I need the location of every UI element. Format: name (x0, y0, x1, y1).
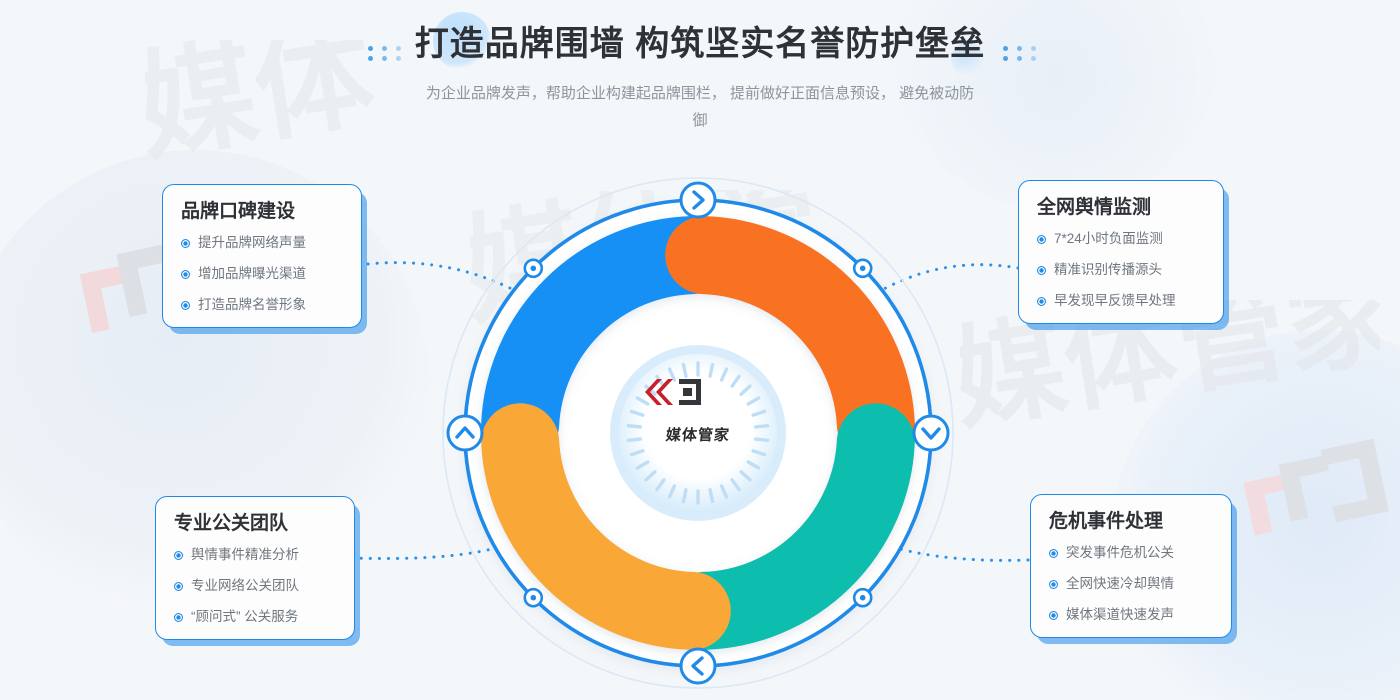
track-dot-bottom-left (525, 589, 542, 606)
node-bottom[interactable] (681, 649, 715, 683)
card-brand-reputation[interactable]: 品牌口碑建设 提升品牌网络声量 增加品牌曝光渠道 打造品牌名誉形象 (162, 184, 362, 328)
bullet-icon (181, 239, 190, 248)
card-title: 危机事件处理 (1049, 509, 1213, 535)
page-header: 打造品牌围墙 构筑坚实名誉防护堡垒 为企业品牌发声，帮助企业构建起品牌围栏， 提… (0, 18, 1400, 134)
card-opinion-monitoring[interactable]: 全网舆情监测 7*24小时负面监测 精准识别传播源头 早发现早反馈早处理 (1018, 180, 1224, 324)
bullet-icon (174, 613, 183, 622)
bullet-icon (1049, 580, 1058, 589)
card-pr-team[interactable]: 专业公关团队 舆情事件精准分析 专业网络公关团队 “顾问式” 公关服务 (155, 496, 355, 640)
card-item-list: 舆情事件精准分析 专业网络公关团队 “顾问式” 公关服务 (174, 546, 336, 626)
list-item-label: 提升品牌网络声量 (198, 234, 306, 252)
center-logo-text: 媒体管家 (665, 424, 731, 445)
list-item: 舆情事件精准分析 (174, 546, 336, 564)
card-title: 专业公关团队 (174, 511, 336, 537)
card-item-list: 提升品牌网络声量 增加品牌曝光渠道 打造品牌名誉形象 (181, 234, 343, 314)
list-item: 7*24小时负面监测 (1037, 230, 1205, 248)
list-item: 全网快速冷却舆情 (1049, 575, 1213, 593)
list-item-label: 全网快速冷却舆情 (1066, 575, 1174, 593)
bullet-icon (174, 582, 183, 591)
bullet-icon (174, 551, 183, 560)
list-item: 早发现早反馈早处理 (1037, 292, 1205, 310)
track-dot-bottom-right (854, 589, 871, 606)
card-crisis-handling[interactable]: 危机事件处理 突发事件危机公关 全网快速冷却舆情 媒体渠道快速发声 (1030, 494, 1232, 638)
bullet-icon (1049, 611, 1058, 620)
center-logo: 媒体管家 (642, 377, 754, 489)
node-top[interactable] (681, 183, 715, 217)
watermark-text-right: 媒体管家 (960, 300, 1380, 480)
list-item: 打造品牌名誉形象 (181, 296, 343, 314)
bullet-icon (1037, 235, 1046, 244)
list-item-label: 早发现早反馈早处理 (1054, 292, 1176, 310)
list-item: 媒体渠道快速发声 (1049, 606, 1213, 624)
decorative-dots-left (368, 46, 405, 61)
list-item: 专业网络公关团队 (174, 577, 336, 595)
card-title: 品牌口碑建设 (181, 199, 343, 225)
bullet-icon (1037, 266, 1046, 275)
bullet-icon (1037, 297, 1046, 306)
list-item-label: 舆情事件精准分析 (191, 546, 299, 564)
list-item-label: 7*24小时负面监测 (1054, 230, 1163, 248)
list-item-label: 精准识别传播源头 (1054, 261, 1162, 279)
page-title: 打造品牌围墙 构筑坚实名誉防护堡垒 (415, 18, 985, 70)
watermark-logo-right (1230, 415, 1400, 575)
bullet-icon (181, 270, 190, 279)
node-left[interactable] (448, 416, 482, 450)
list-item-label: 专业网络公关团队 (191, 577, 299, 595)
card-title: 全网舆情监测 (1037, 195, 1205, 221)
page-subtitle: 为企业品牌发声，帮助企业构建起品牌围栏， 提前做好正面信息预设， 避免被动防御 (420, 80, 980, 134)
list-item: 增加品牌曝光渠道 (181, 265, 343, 283)
list-item-label: 增加品牌曝光渠道 (198, 265, 306, 283)
donut-wheel: 媒体管家 (433, 168, 963, 698)
card-item-list: 突发事件危机公关 全网快速冷却舆情 媒体渠道快速发声 (1049, 544, 1213, 624)
track-dot-top-right (854, 260, 871, 277)
list-item: 提升品牌网络声量 (181, 234, 343, 252)
list-item: “顾问式” 公关服务 (174, 608, 336, 626)
chevron-logo-mark (642, 377, 704, 407)
bullet-icon (181, 301, 190, 310)
list-item-label: 媒体渠道快速发声 (1066, 606, 1174, 624)
infographic-stage: 媒体 媒体管 媒体管家 打造品牌围墙 构筑坚实名誉防护堡垒 为企业品牌发声，帮助… (0, 0, 1400, 700)
node-right[interactable] (914, 416, 948, 450)
list-item-label: 打造品牌名誉形象 (198, 296, 306, 314)
list-item: 突发事件危机公关 (1049, 544, 1213, 562)
decorative-dots-right (1003, 46, 1040, 61)
bullet-icon (1049, 549, 1058, 558)
card-item-list: 7*24小时负面监测 精准识别传播源头 早发现早反馈早处理 (1037, 230, 1205, 310)
list-item: 精准识别传播源头 (1037, 261, 1205, 279)
track-dot-top-left (525, 260, 542, 277)
list-item-label: 突发事件危机公关 (1066, 544, 1174, 562)
list-item-label: “顾问式” 公关服务 (191, 608, 298, 626)
